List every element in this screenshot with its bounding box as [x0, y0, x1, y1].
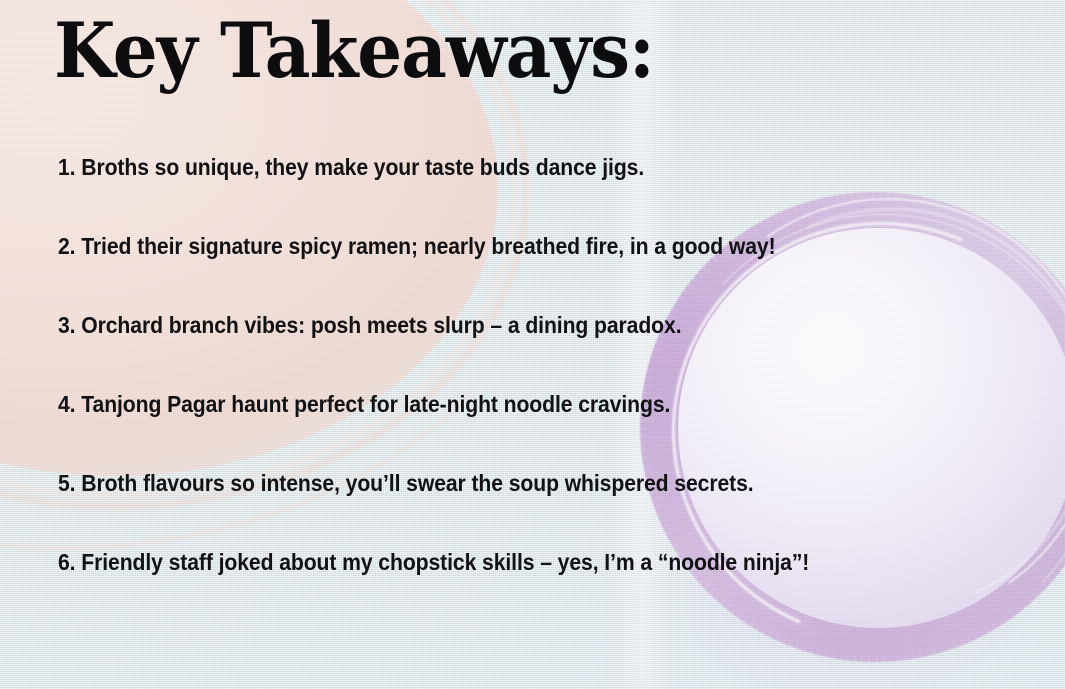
page-title: Key Takeaways:: [54, 12, 654, 90]
list-item: 6. Friendly staff joked about my chopsti…: [58, 547, 941, 626]
key-takeaways-graphic: Key Takeaways: 1. Broths so unique, they…: [0, 0, 1065, 689]
list-item: 5. Broth flavours so intense, you’ll swe…: [58, 468, 941, 547]
takeaways-list: 1. Broths so unique, they make your tast…: [58, 152, 1018, 626]
list-item: 2. Tried their signature spicy ramen; ne…: [58, 231, 941, 310]
list-item: 4. Tanjong Pagar haunt perfect for late-…: [58, 389, 941, 468]
content-area: Key Takeaways: 1. Broths so unique, they…: [0, 0, 1065, 689]
list-item: 3. Orchard branch vibes: posh meets slur…: [58, 310, 941, 389]
list-item: 1. Broths so unique, they make your tast…: [58, 152, 941, 231]
